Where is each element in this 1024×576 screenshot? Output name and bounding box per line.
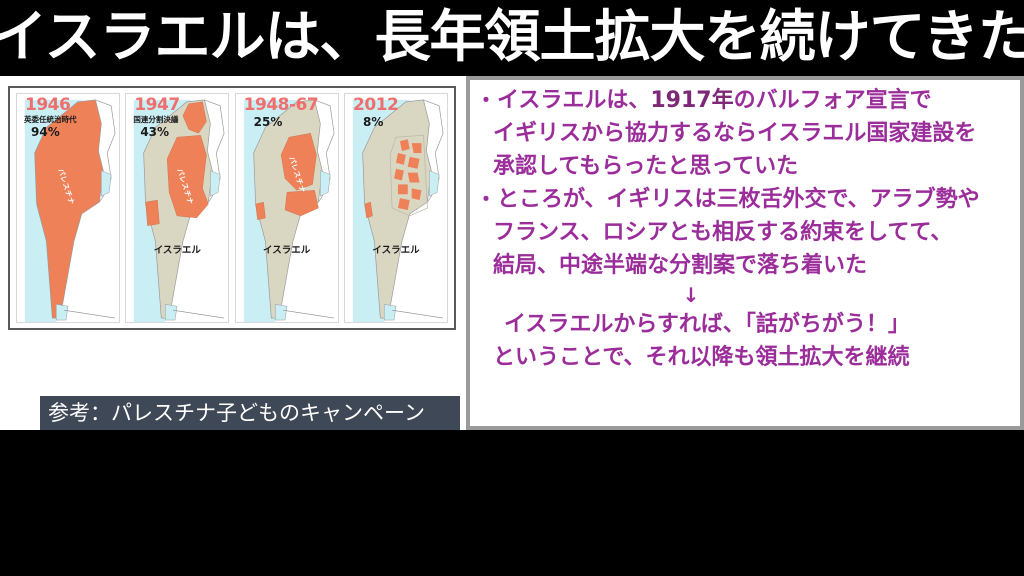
map-illustration-1948-67 xyxy=(236,94,338,322)
map-series-box: 1946 英委任統治時代 94% パレスチナ xyxy=(8,86,456,330)
map-percent-label: 25% xyxy=(254,116,283,128)
map-israel-label: イスラエル xyxy=(236,246,338,256)
note-line: ・ところが、イギリスは三枚舌外交で、アラブ勢や xyxy=(476,183,1024,216)
note-line: イギリスから協力するならイスラエル国家建設を xyxy=(476,117,1024,150)
map-year-label: 1947 xyxy=(134,97,179,114)
map-card-1947: 1947 国連分割決議 43% パレスチナ イスラエル xyxy=(125,93,229,323)
map-percent-label: 43% xyxy=(140,126,169,138)
bullet-marker-icon: ・ xyxy=(476,183,496,216)
note-line: ・イスラエルは、1917年のバルフォア宣言で xyxy=(476,84,1024,117)
notes-content: ・イスラエルは、1917年のバルフォア宣言で イギリスから協力するならイスラエル… xyxy=(476,84,1024,374)
map-israel-label: イスラエル xyxy=(126,246,228,256)
map-card-1948-67: 1948-67 25% パレスチナ イスラエル xyxy=(235,93,339,323)
notes-panel: ・イスラエルは、1917年のバルフォア宣言で イギリスから協力するならイスラエル… xyxy=(466,76,1024,430)
bullet-marker-icon: ・ xyxy=(476,84,496,117)
map-card-1946: 1946 英委任統治時代 94% パレスチナ xyxy=(16,93,120,323)
source-caption-text: 参考：パレスチナ子どものキャンペーン xyxy=(48,403,425,424)
note-line: 承認してもらったと思っていた xyxy=(476,150,1024,183)
note-conclusion-line: ということで、それ以降も領土拡大を継続 xyxy=(476,341,1024,374)
note-text: イスラエルは、 xyxy=(497,88,650,113)
slide-root: イスラエルは、長年領土拡大を続けてきた 1946 英委任統治時代 94% パレス… xyxy=(0,0,1024,576)
down-arrow-icon: ↓ xyxy=(476,282,1024,308)
note-emphasis: 1917年 xyxy=(650,88,733,113)
note-line: 結局、中途半端な分割案で落ち着いた xyxy=(476,249,1024,282)
source-caption-band: 参考：パレスチナ子どものキャンペーン xyxy=(40,396,460,430)
map-illustration-2012 xyxy=(345,94,447,322)
map-israel-label: イスラエル xyxy=(345,246,447,256)
note-conclusion-line: イスラエルからすれば、「話がちがう！」 xyxy=(476,308,1024,341)
note-text: ところが、イギリスは三枚舌外交で、アラブ勢や xyxy=(497,187,980,212)
map-card-2012: 2012 8% イスラエル xyxy=(344,93,448,323)
slide-title-bar: イスラエルは、長年領土拡大を続けてきた xyxy=(0,0,1024,76)
page-title: イスラエルは、長年領土拡大を続けてきた xyxy=(0,10,1024,66)
maps-panel: 1946 英委任統治時代 94% パレスチナ xyxy=(0,76,466,430)
map-year-label: 1946 xyxy=(25,97,70,114)
map-percent-label: 94% xyxy=(31,126,60,138)
map-year-label: 2012 xyxy=(353,97,398,114)
note-text: のバルフォア宣言で xyxy=(734,88,932,113)
map-percent-label: 8% xyxy=(363,116,383,128)
map-subtitle-label: 英委任統治時代 xyxy=(24,116,77,124)
map-year-label: 1948-67 xyxy=(244,97,319,114)
note-line: フランス、ロシアとも相反する約束をしてて、 xyxy=(476,216,1024,249)
map-subtitle-label: 国連分割決議 xyxy=(133,116,178,124)
